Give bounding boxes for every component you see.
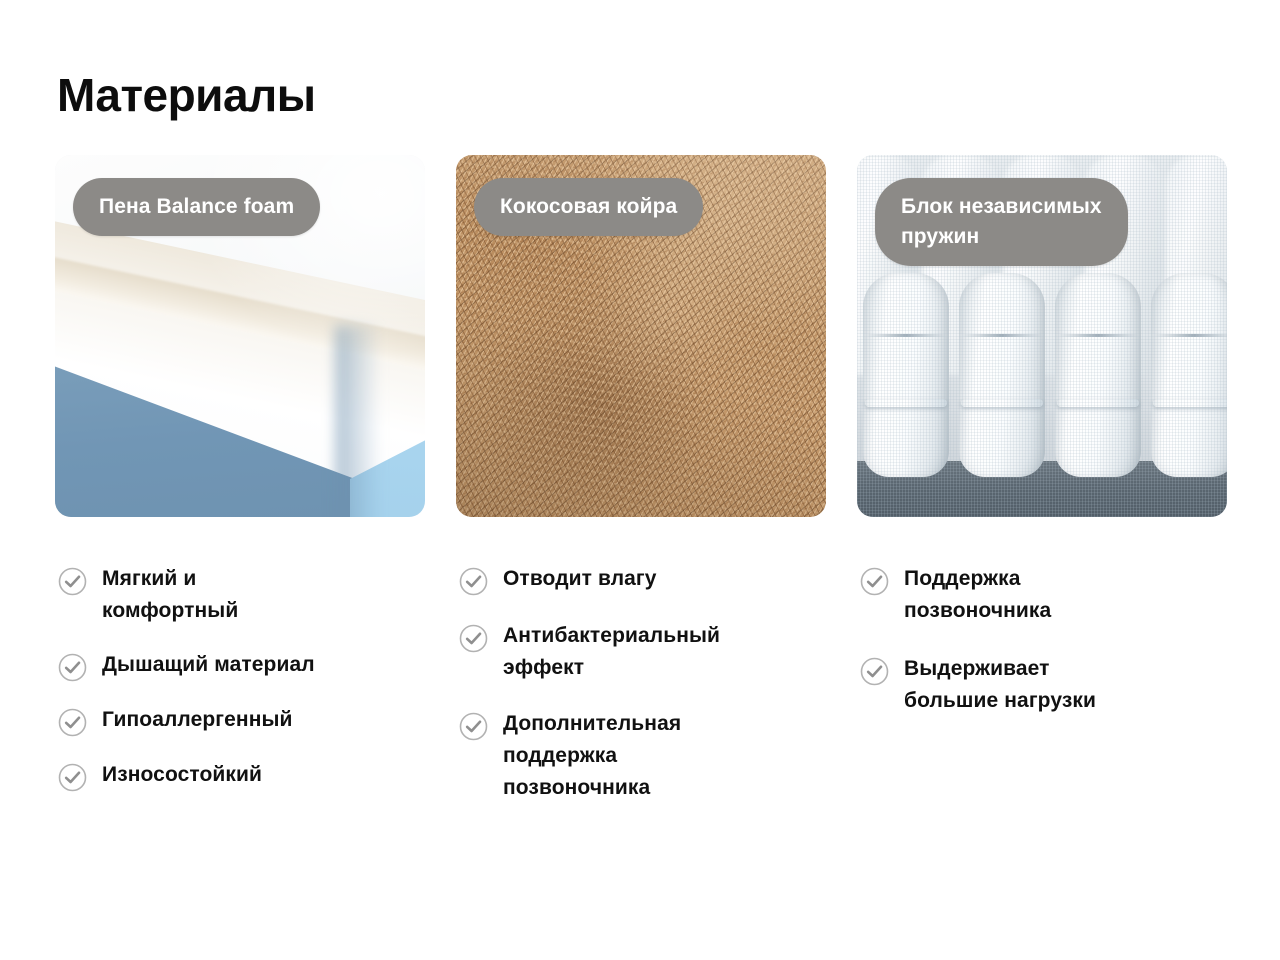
material-badge-coir: Кокосовая койра [474,178,703,236]
spring-coil [1055,273,1141,477]
feature-label: Мягкий и комфортный [102,563,238,627]
check-circle-icon [58,653,87,682]
feature-label: Отводит влагу [503,563,657,595]
check-circle-icon [860,567,889,596]
list-item: Мягкий и комфортный [58,563,430,627]
list-item: Поддержка позвоночника [860,563,1232,627]
feature-list-springs: Поддержка позвоночника Выдерживает больш… [860,563,1232,743]
check-circle-icon [860,657,889,686]
feature-label: Износостойкий [102,759,262,791]
material-badge-springs: Блок независимых пружин [875,178,1128,266]
material-badge-foam: Пена Balance foam [73,178,320,236]
check-circle-icon [459,712,488,741]
spring-coil [1151,273,1227,477]
check-circle-icon [58,763,87,792]
material-image-foam[interactable]: Пена Balance foam [55,155,425,517]
feature-label: Поддержка позвоночника [904,563,1051,627]
slide-canvas: Материалы Пена Balance foam [0,0,1280,960]
page-title: Материалы [57,68,316,122]
check-circle-icon [459,567,488,596]
check-circle-icon [459,624,488,653]
materials-columns: Пена Balance foam Мягкий и комфортный [55,155,1227,517]
springs-front-row [863,273,1227,477]
feature-list-coir: Отводит влагу Антибактериальный эффект [459,563,831,828]
material-column-springs: Блок независимых пружин Поддержка позвон… [857,155,1227,517]
list-item: Выдерживает большие нагрузки [860,653,1232,717]
list-item: Антибактериальный эффект [459,620,831,684]
material-image-coir[interactable]: Кокосовая койра [456,155,826,517]
list-item: Гипоаллергенный [58,704,430,737]
feature-label: Дышащий материал [102,649,315,681]
spring-coil [959,273,1045,477]
feature-label: Гипоаллергенный [102,704,293,736]
spring-coil [863,273,949,477]
material-column-coir: Кокосовая койра Отводит влагу [456,155,826,517]
material-image-springs[interactable]: Блок независимых пружин [857,155,1227,517]
list-item: Износостойкий [58,759,430,792]
check-circle-icon [58,567,87,596]
feature-label: Антибактериальный эффект [503,620,720,684]
list-item: Дышащий материал [58,649,430,682]
feature-list-foam: Мягкий и комфортный Дышащий материал [58,563,430,792]
material-column-foam: Пена Balance foam Мягкий и комфортный [55,155,425,517]
feature-label: Выдерживает большие нагрузки [904,653,1096,717]
list-item: Отводит влагу [459,563,831,596]
list-item: Дополнительная поддержка позвоночника [459,708,831,804]
feature-label: Дополнительная поддержка позвоночника [503,708,681,804]
check-circle-icon [58,708,87,737]
